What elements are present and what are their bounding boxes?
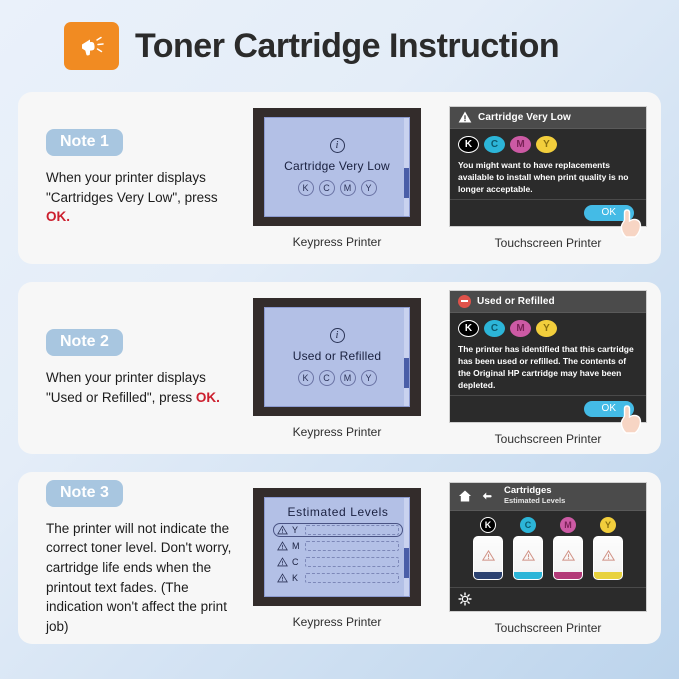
touchscreen-title-block: Cartridges Estimated Levels: [504, 486, 565, 506]
chip-y: Y: [536, 320, 557, 337]
megaphone-icon: [64, 22, 119, 70]
touchscreen-message: You might want to have replacements avai…: [458, 159, 638, 195]
lcd-scrollbar[interactable]: [404, 308, 409, 406]
touchscreen-panel: Cartridges Estimated Levels K: [449, 482, 647, 612]
touchscreen-title: Cartridge Very Low: [478, 112, 571, 123]
lcd-screen: i Cartridge Very Low K C M Y: [264, 117, 410, 217]
page-header: Toner Cartridge Instruction: [0, 0, 679, 92]
info-icon: i: [330, 328, 345, 343]
note-2-text-block: Note 2 When your printer displays "Used …: [32, 329, 237, 407]
chip-m: M: [340, 370, 356, 386]
keypress-printer-2: i Used or Refilled K C M Y Keypress Prin…: [253, 298, 421, 439]
level-row-m[interactable]: M: [273, 539, 403, 553]
lcd-kcmy-chips: K C M Y: [298, 180, 377, 196]
cartridge-dot-m: M: [560, 517, 576, 533]
stop-circle-icon: [458, 295, 471, 308]
note-1-text-block: Note 1 When your printer displays "Cartr…: [32, 129, 237, 227]
cartridge-fill-m: [554, 572, 582, 579]
note-card-1: Note 1 When your printer displays "Cartr…: [18, 92, 661, 264]
chip-c: C: [319, 180, 335, 196]
level-bar-y: [305, 525, 399, 535]
note-card-3: Note 3 The printer will not indicate the…: [18, 472, 661, 644]
touchscreen-printer-1: Cartridge Very Low K C M Y You might wan…: [449, 106, 647, 250]
back-arrow-icon[interactable]: [481, 489, 495, 503]
cartridge-dot-c: C: [520, 517, 536, 533]
cartridge-m[interactable]: M: [552, 517, 584, 580]
kcmy-chips: K C M Y: [458, 136, 638, 153]
cartridge-c[interactable]: C: [512, 517, 544, 580]
cartridge-box-m: [553, 536, 583, 580]
note-badge-3: Note 3: [46, 480, 123, 507]
touchscreen-caption: Touchscreen Printer: [495, 432, 602, 446]
warning-triangle-icon: [602, 550, 615, 561]
chip-y: Y: [361, 370, 377, 386]
lcd-scrollbar[interactable]: [404, 498, 409, 596]
level-row-k[interactable]: K: [273, 571, 403, 585]
touchscreen-footer: [450, 587, 646, 611]
touchscreen-header: Used or Refilled: [450, 291, 646, 313]
cartridge-box-c: [513, 536, 543, 580]
lcd-message: Used or Refilled: [293, 349, 382, 363]
level-letter-y: Y: [292, 525, 301, 535]
kcmy-chips: K C M Y: [458, 320, 638, 337]
keypress-printer-1: i Cartridge Very Low K C M Y Keypress Pr…: [253, 108, 421, 249]
level-bar-c: [305, 557, 399, 567]
warning-triangle-icon: [277, 573, 288, 583]
touchscreen-body: K C M Y The printer has identified that …: [450, 313, 646, 395]
touchscreen-subtitle: Estimated Levels: [504, 497, 565, 506]
chip-k: K: [298, 370, 314, 386]
touchscreen-printer-3: Cartridges Estimated Levels K: [449, 482, 647, 635]
keypress-caption: Keypress Printer: [293, 425, 382, 439]
note-1-line-1: When your printer displays: [46, 170, 206, 185]
note-badge-1: Note 1: [46, 129, 123, 156]
chip-k: K: [458, 320, 479, 337]
cartridge-fill-c: [514, 572, 542, 579]
level-row-c[interactable]: C: [273, 555, 403, 569]
chip-k: K: [458, 136, 479, 153]
lcd-screen: Estimated Levels Y: [264, 497, 410, 597]
note-1-description: When your printer displays "Cartridges V…: [46, 168, 237, 227]
chip-c: C: [484, 136, 505, 153]
cartridge-dot-y: Y: [600, 517, 616, 533]
cartridge-fill-y: [594, 572, 622, 579]
chip-m: M: [340, 180, 356, 196]
level-bar-k: [305, 573, 399, 583]
keypress-printer-3: Estimated Levels Y: [253, 488, 421, 629]
chip-k: K: [298, 180, 314, 196]
printer-bezel: Estimated Levels Y: [253, 488, 421, 606]
touchscreen-footer: OK: [450, 395, 646, 422]
keypress-caption: Keypress Printer: [293, 615, 382, 629]
chip-m: M: [510, 136, 531, 153]
touchscreen-header: Cartridge Very Low: [450, 107, 646, 129]
pointing-hand-icon: [618, 208, 644, 238]
touchscreen-caption: Touchscreen Printer: [495, 621, 602, 635]
cartridge-k[interactable]: K: [472, 517, 504, 580]
warning-triangle-icon: [277, 541, 288, 551]
printer-bezel: i Used or Refilled K C M Y: [253, 298, 421, 416]
cartridge-levels-row: K C: [450, 511, 646, 587]
cartridge-box-k: [473, 536, 503, 580]
lcd-levels-title: Estimated Levels: [273, 505, 403, 519]
cartridge-y[interactable]: Y: [592, 517, 624, 580]
lcd-scrollbar[interactable]: [404, 118, 409, 216]
note-3-description: The printer will not indicate the correc…: [46, 519, 237, 636]
note-1-ok-highlight: OK.: [46, 209, 70, 224]
chip-c: C: [319, 370, 335, 386]
lcd-kcmy-chips: K C M Y: [298, 370, 377, 386]
note-2-line-1: When your printer displays: [46, 370, 206, 385]
note-badge-2: Note 2: [46, 329, 123, 356]
touchscreen-panel: Used or Refilled K C M Y The printer has…: [449, 290, 647, 423]
chip-m: M: [510, 320, 531, 337]
warning-triangle-icon: [458, 111, 472, 123]
warning-triangle-icon: [522, 550, 535, 561]
chip-c: C: [484, 320, 505, 337]
touchscreen-panel: Cartridge Very Low K C M Y You might wan…: [449, 106, 647, 227]
level-letter-c: C: [292, 557, 301, 567]
warning-triangle-icon: [277, 525, 288, 535]
warning-triangle-icon: [482, 550, 495, 561]
touchscreen-printer-2: Used or Refilled K C M Y The printer has…: [449, 290, 647, 446]
level-letter-m: M: [292, 541, 301, 551]
note-card-2: Note 2 When your printer displays "Used …: [18, 282, 661, 454]
note-3-text-block: Note 3 The printer will not indicate the…: [32, 480, 237, 636]
note-2-ok-highlight: OK.: [196, 390, 220, 405]
page-title: Toner Cartridge Instruction: [135, 27, 559, 66]
gear-icon[interactable]: [458, 592, 472, 606]
cartridge-dot-k: K: [480, 517, 496, 533]
note-2-line-2: "Used or Refilled", press: [46, 390, 196, 405]
level-bar-m: [305, 541, 399, 551]
chip-y: Y: [536, 136, 557, 153]
keypress-caption: Keypress Printer: [293, 235, 382, 249]
level-row-y[interactable]: Y: [273, 523, 403, 537]
lcd-screen: i Used or Refilled K C M Y: [264, 307, 410, 407]
touchscreen-header: Cartridges Estimated Levels: [450, 483, 646, 511]
note-2-description: When your printer displays "Used or Refi…: [46, 368, 237, 407]
home-icon[interactable]: [458, 489, 472, 503]
touchscreen-title: Used or Refilled: [477, 296, 555, 307]
chip-y: Y: [361, 180, 377, 196]
touchscreen-footer: OK: [450, 199, 646, 226]
note-1-line-2: "Cartridges Very Low", press: [46, 190, 218, 205]
cartridge-box-y: [593, 536, 623, 580]
pointing-hand-icon: [618, 404, 644, 434]
cartridge-fill-k: [474, 572, 502, 579]
touchscreen-body: K C M Y You might want to have replaceme…: [450, 129, 646, 199]
info-icon: i: [330, 138, 345, 153]
touchscreen-caption: Touchscreen Printer: [495, 236, 602, 250]
printer-bezel: i Cartridge Very Low K C M Y: [253, 108, 421, 226]
warning-triangle-icon: [277, 557, 288, 567]
notes-list: Note 1 When your printer displays "Cartr…: [0, 92, 679, 644]
touchscreen-message: The printer has identified that this car…: [458, 343, 638, 391]
lcd-message: Cartridge Very Low: [284, 159, 390, 173]
level-letter-k: K: [292, 573, 301, 583]
warning-triangle-icon: [562, 550, 575, 561]
